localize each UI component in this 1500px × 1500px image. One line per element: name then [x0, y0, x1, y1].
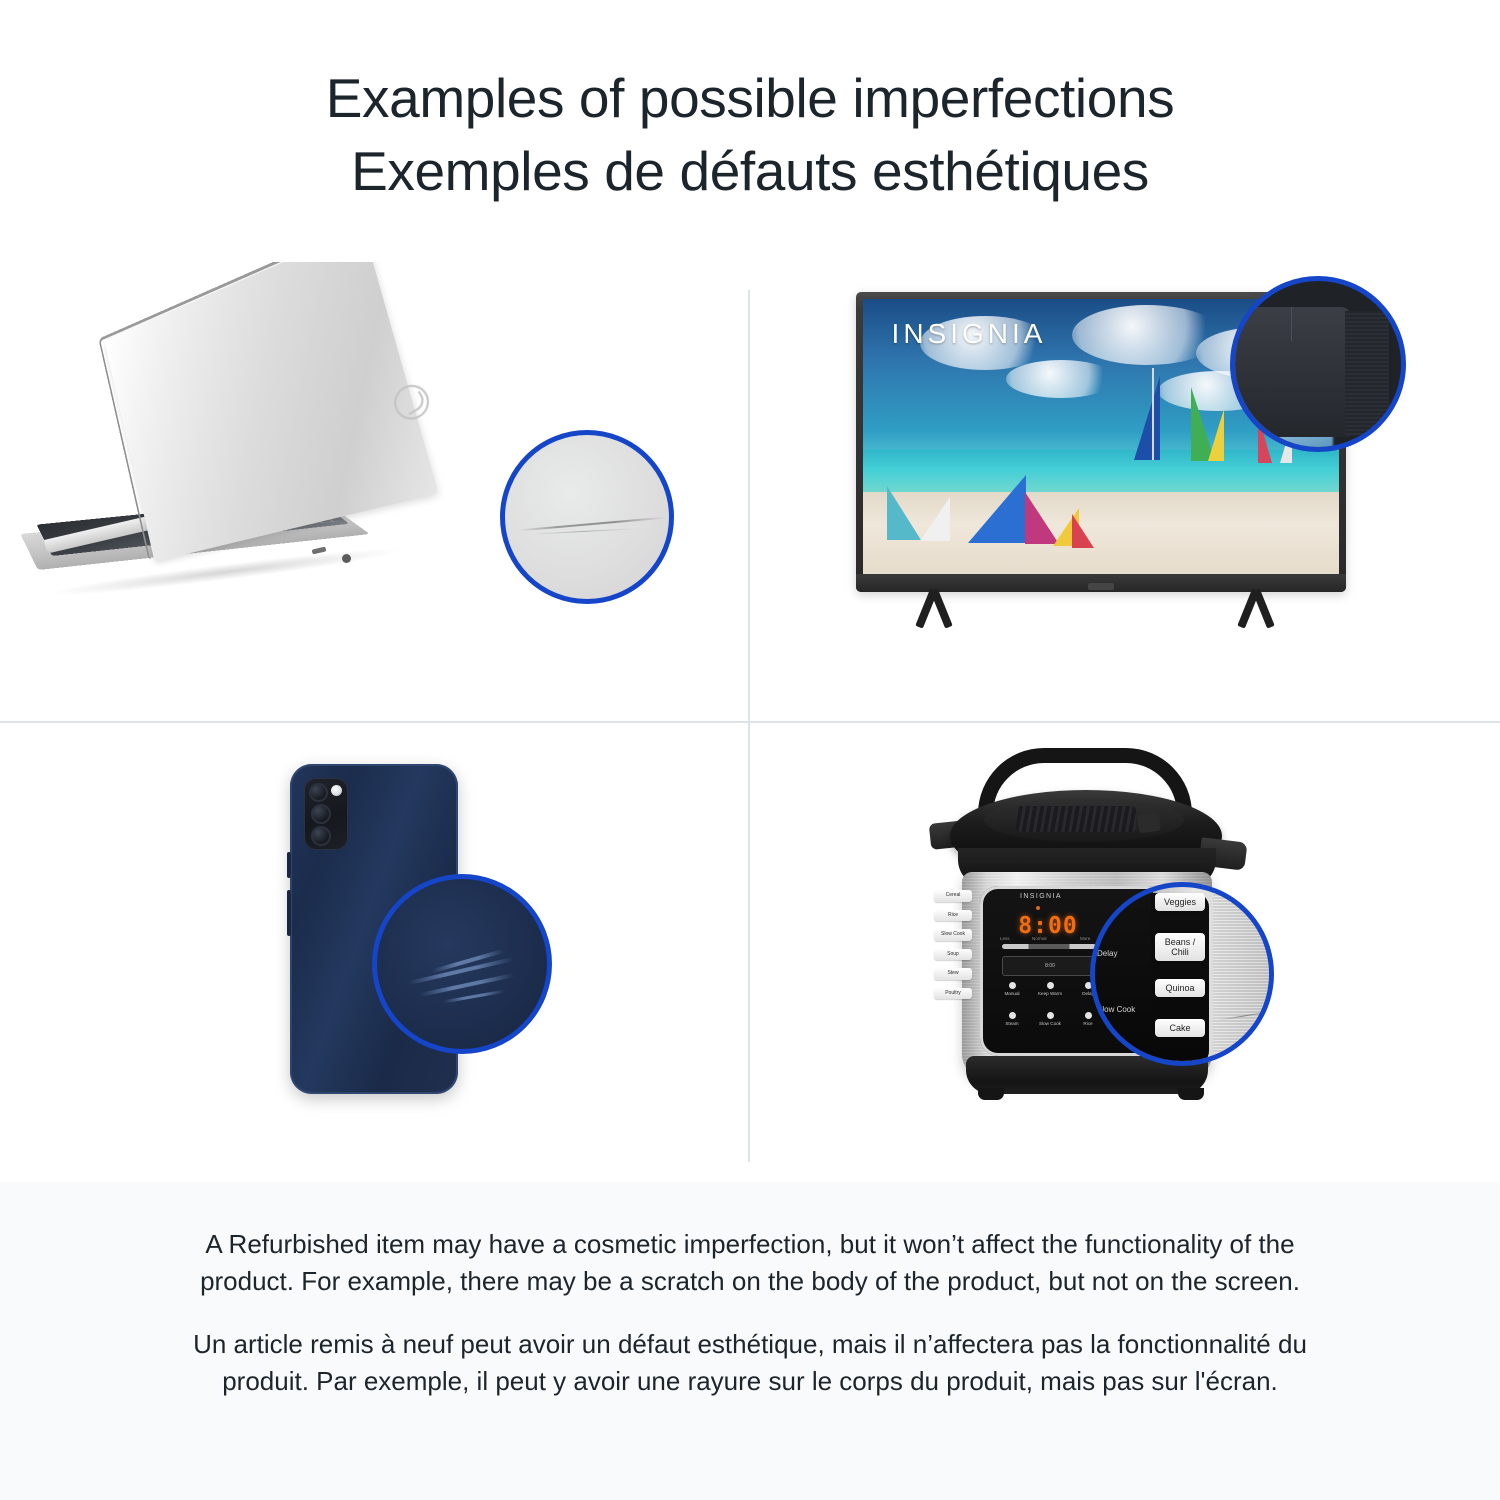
laptop-audio-jack — [342, 554, 351, 563]
magnifier-circle-television — [1230, 276, 1406, 452]
screen-kite-white — [920, 497, 950, 541]
cooker-slider-label-more: More — [1080, 936, 1090, 941]
cooker-button-keep-warm[interactable]: Keep Warm — [1034, 982, 1066, 996]
footer-disclaimer: A Refurbished item may have a cosmetic i… — [0, 1182, 1500, 1500]
cooker-button-soup[interactable]: Soup — [934, 949, 972, 961]
quadrant-pressure-cooker: Cereal Rice Slow Cook Soup Stew Poultry … — [752, 722, 1500, 1182]
page-title-english: Examples of possible imperfections — [326, 62, 1174, 135]
header: Examples of possible imperfections Exemp… — [0, 0, 1500, 262]
cooker-magnified-label-slow-cook: Slow Cook — [1097, 1005, 1135, 1014]
cooker-button-slow-cook-grid[interactable]: Slow Cook — [1034, 1012, 1066, 1026]
screen-kite-red — [1072, 514, 1094, 548]
cooker-function-button-grid: Manual Keep Warm Delay Steam Slow Cook R… — [996, 982, 1106, 1048]
laptop-scratch-mark-secondary — [531, 528, 635, 534]
screen-kite-teal — [887, 486, 921, 540]
laptop-scratch-mark — [519, 517, 665, 532]
tv-stand-leg-right — [1222, 590, 1292, 632]
cooker-magnified-button-beans-chili[interactable]: Beans / Chili — [1155, 933, 1205, 961]
page-title-french: Exemples de défauts esthétiques — [351, 135, 1149, 208]
refurbished-imperfections-infographic: Examples of possible imperfections Exemp… — [0, 0, 1500, 1500]
cooker-button-stew[interactable]: Stew — [934, 968, 972, 980]
magnifier-circle-smartphone — [372, 874, 552, 1054]
cooker-time-display: 8:00 — [1010, 912, 1086, 940]
quadrant-laptop — [0, 262, 748, 722]
cooker-button-steam[interactable]: Steam — [996, 1012, 1028, 1026]
tv-bezel-seam-defect — [1291, 307, 1292, 341]
cooker-button-manual[interactable]: Manual — [996, 982, 1028, 996]
tv-magnified-bezel-side — [1345, 311, 1389, 435]
cooker-brand-logo: INSIGNIA — [1020, 893, 1062, 900]
cooker-status-led-icon — [1036, 906, 1040, 910]
grid-divider-vertical — [748, 290, 750, 1162]
cooker-steam-valve-icon — [1137, 813, 1161, 834]
magnifier-circle-pressure-cooker: Delay Slow Cook Veggies Beans / Chili Qu… — [1090, 882, 1274, 1066]
disclaimer-paragraph-french: Un article remis à neuf peut avoir un dé… — [190, 1326, 1310, 1400]
phone-volume-button — [287, 852, 291, 878]
cooker-magnified-button-cake[interactable]: Cake — [1155, 1019, 1205, 1037]
smartphone-illustration — [0, 722, 748, 1182]
camera-lens-icon — [311, 804, 331, 824]
camera-flash-icon — [331, 785, 342, 796]
cooker-lid-vent-grille — [1016, 806, 1136, 832]
cooker-button-slow-cook[interactable]: Slow Cook — [934, 929, 972, 941]
cooker-button-poultry[interactable]: Poultry — [934, 988, 972, 1000]
pressure-cooker-illustration: Cereal Rice Slow Cook Soup Stew Poultry … — [752, 722, 1500, 1182]
tv-brand-logo: INSIGNIA — [892, 318, 1047, 350]
camera-lens-icon — [311, 826, 331, 846]
cooker-magnified-button-quinoa[interactable]: Quinoa — [1155, 979, 1205, 997]
magnifier-circle-laptop — [500, 430, 674, 604]
cooker-slider-label-less: Less — [1000, 936, 1010, 941]
phone-power-button — [287, 890, 291, 936]
screen-kite-blue — [968, 475, 1026, 543]
laptop-illustration — [0, 262, 748, 722]
screen-cloud — [1006, 360, 1116, 398]
cooker-keypad-readout: 8:00 — [1002, 956, 1098, 976]
cooker-left-button-column: Cereal Rice Slow Cook Soup Stew Poultry — [934, 890, 976, 1007]
quadrant-smartphone — [0, 722, 748, 1182]
cooker-magnified-panel — [1090, 887, 1153, 1066]
phone-camera-module — [304, 778, 348, 850]
screen-sailboat-blue — [1134, 376, 1160, 460]
disclaimer-paragraph-english: A Refurbished item may have a cosmetic i… — [190, 1226, 1310, 1300]
cooker-pressure-slider[interactable] — [1002, 944, 1096, 949]
product-example-grid: INSIGNIA — [0, 262, 1500, 1182]
phone-scratch-mark — [443, 990, 505, 1004]
cooker-magnified-label-delay: Delay — [1097, 949, 1117, 958]
television-illustration: INSIGNIA — [752, 262, 1500, 722]
tv-stand-leg-left — [900, 590, 970, 632]
cooker-foot-left — [978, 1088, 1004, 1100]
cooker-button-cereal[interactable]: Cereal — [934, 890, 972, 902]
cooker-foot-right — [1178, 1088, 1204, 1100]
tv-ir-receiver — [1088, 583, 1114, 590]
camera-lens-icon — [309, 783, 328, 802]
cooker-magnified-stainless — [1213, 887, 1274, 1066]
screen-sailboat-yellow — [1208, 409, 1224, 461]
cooker-button-rice[interactable]: Rice — [934, 910, 972, 922]
screen-mast — [1152, 368, 1154, 460]
cooker-magnified-button-veggies[interactable]: Veggies — [1155, 893, 1205, 911]
cooker-slider-label-normal: Normal — [1032, 936, 1047, 941]
quadrant-television: INSIGNIA — [752, 262, 1500, 722]
